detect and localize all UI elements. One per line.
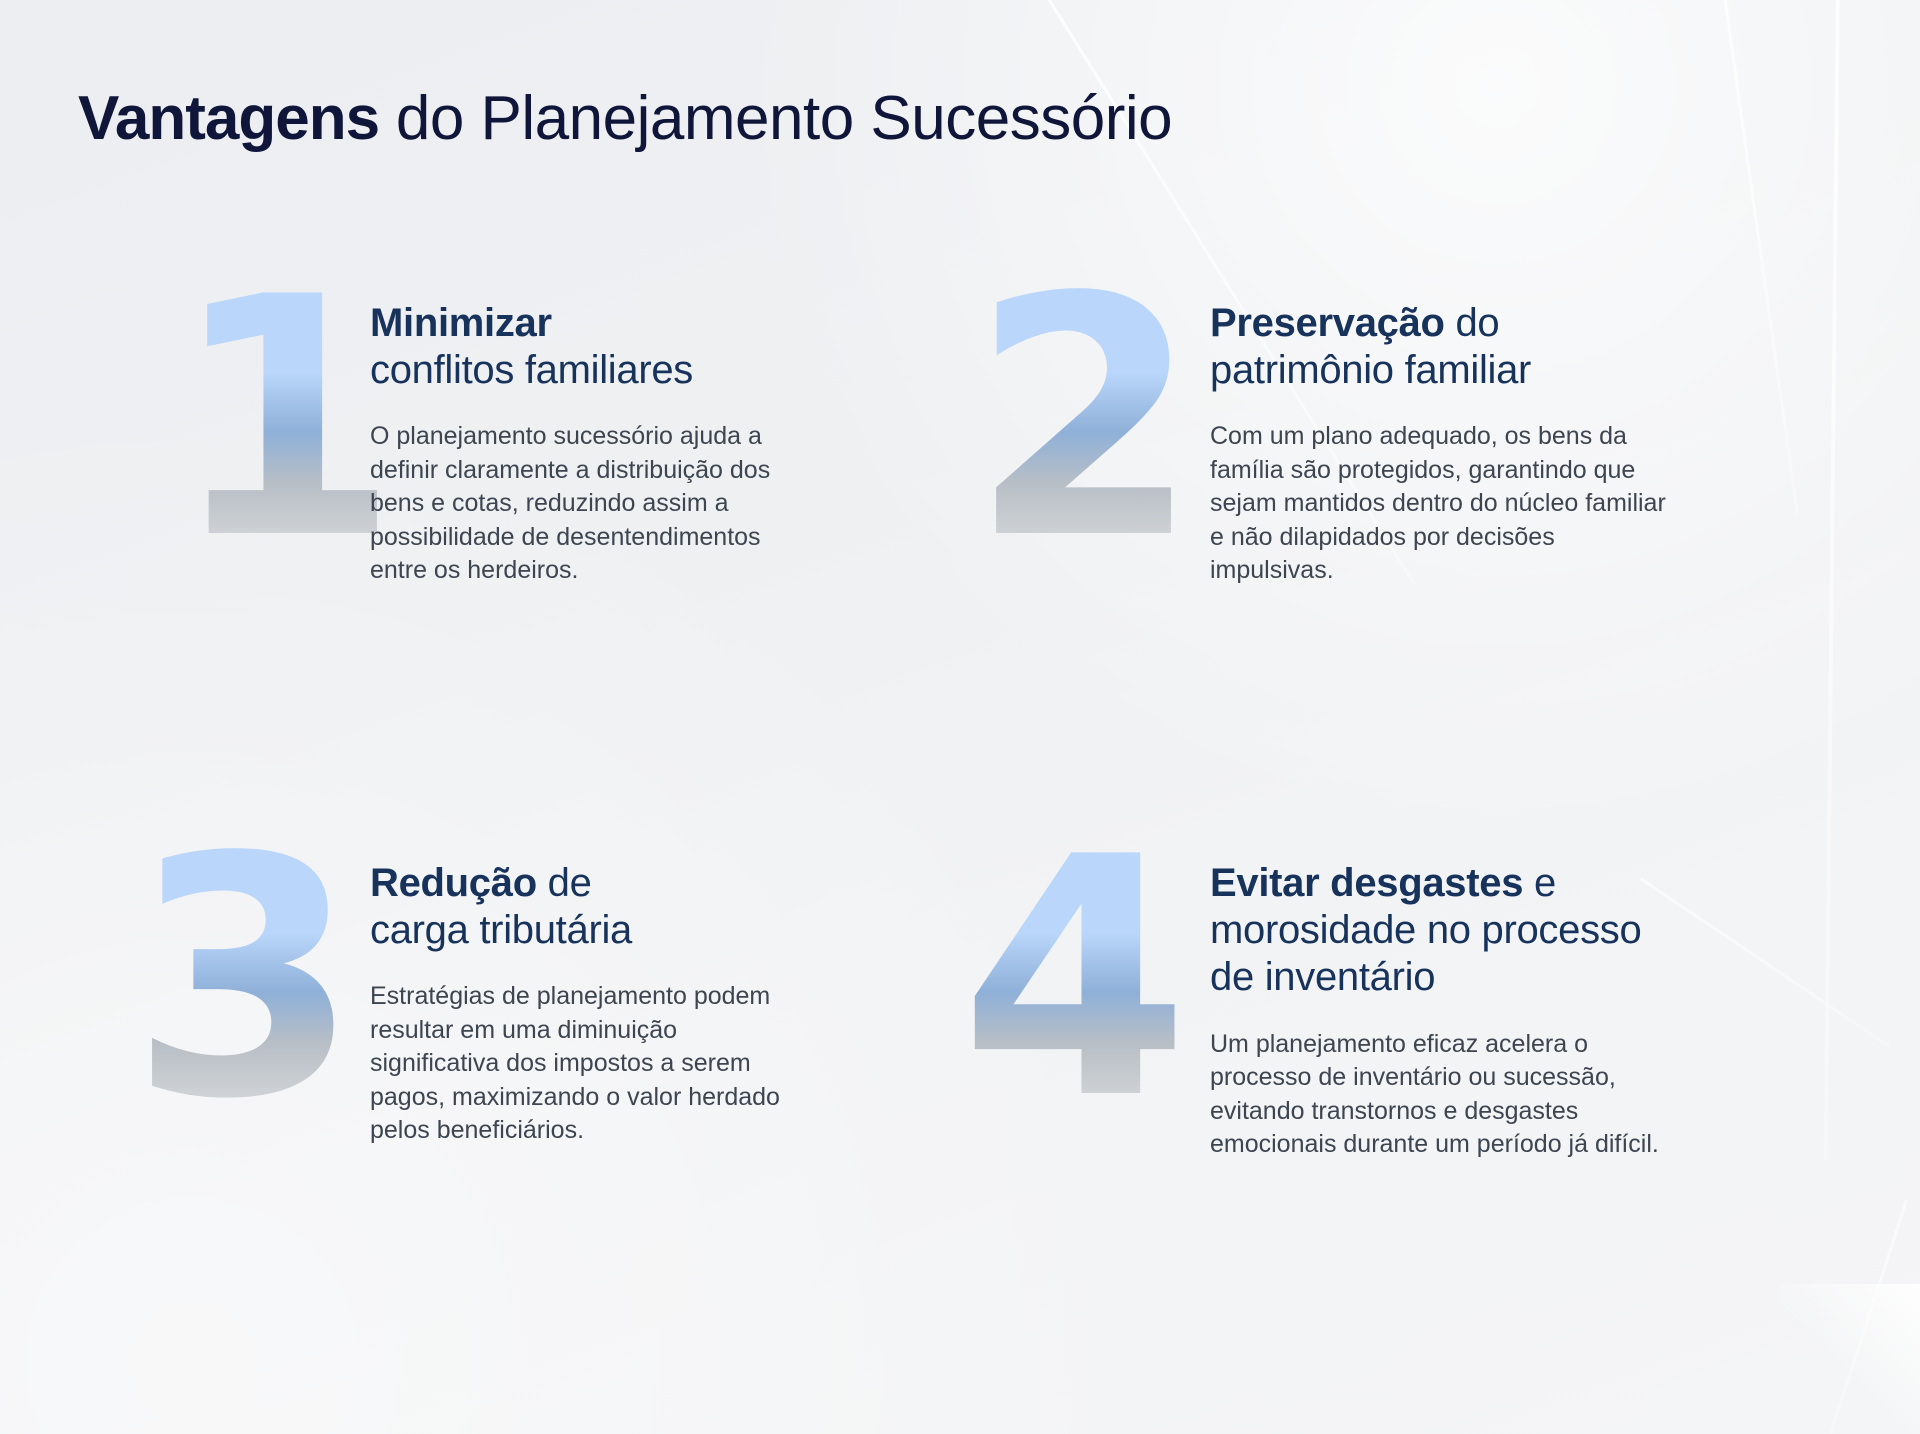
advantage-heading-bold: Evitar desgastes (1210, 861, 1523, 905)
advantage-heading-line2: conflitos familiares (370, 347, 800, 394)
advantage-heading-tail: do (1445, 301, 1500, 345)
advantage-heading-1: Minimizar conflitos familiares (370, 300, 800, 394)
advantage-number-1: 1 (170, 254, 392, 584)
advantage-heading-tail: e (1523, 861, 1556, 905)
advantage-heading-bold: Minimizar (370, 301, 552, 345)
advantage-content-4: Evitar desgastes e morosidade no process… (1210, 860, 1670, 1162)
advantage-heading-bold: Redução (370, 861, 537, 905)
advantage-number-2: 2 (970, 254, 1192, 584)
advantage-heading-line2: patrimônio familiar (1210, 347, 1670, 394)
advantage-content-2: Preservação do patrimônio familiar Com u… (1210, 300, 1670, 588)
advantage-heading-4: Evitar desgastes e morosidade no process… (1210, 860, 1670, 1002)
advantage-content-1: Minimizar conflitos familiares O planeja… (370, 300, 800, 588)
advantage-heading-line3: de inventário (1210, 954, 1670, 1001)
advantages-grid: 1 Minimizar conflitos familiares O plane… (0, 300, 1920, 1420)
advantage-heading-2: Preservação do patrimônio familiar (1210, 300, 1670, 394)
advantage-description-2: Com um plano adequado, os bens da famíli… (1210, 420, 1670, 588)
page-title: Vantagens do Planejamento Sucessório (78, 86, 1172, 151)
advantage-heading-line1: Preservação do (1210, 300, 1670, 347)
advantage-heading-line1: Redução de (370, 860, 800, 907)
advantage-description-1: O planejamento sucessório ajuda a defini… (370, 420, 800, 588)
advantage-heading-line2: carga tributária (370, 907, 800, 954)
advantage-content-3: Redução de carga tributária Estratégias … (370, 860, 800, 1148)
advantage-description-4: Um planejamento eficaz acelera o process… (1210, 1028, 1670, 1162)
advantage-heading-tail: de (537, 861, 592, 905)
advantage-heading-line2: morosidade no processo (1210, 907, 1670, 954)
advantage-heading-3: Redução de carga tributária (370, 860, 800, 954)
advantage-description-3: Estratégias de planejamento podem result… (370, 980, 800, 1148)
advantages-row-1: 1 Minimizar conflitos familiares O plane… (0, 300, 1920, 860)
advantages-row-2: 3 Redução de carga tributária Estratégia… (0, 860, 1920, 1420)
advantage-number-4: 4 (960, 814, 1182, 1144)
advantage-number-3: 3 (130, 814, 352, 1144)
page-title-bold: Vantagens (78, 84, 379, 153)
advantage-heading-line1: Minimizar (370, 300, 800, 347)
advantage-heading-line1: Evitar desgastes e (1210, 860, 1670, 907)
advantage-heading-bold: Preservação (1210, 301, 1445, 345)
page-title-rest: do Planejamento Sucessório (379, 84, 1172, 153)
